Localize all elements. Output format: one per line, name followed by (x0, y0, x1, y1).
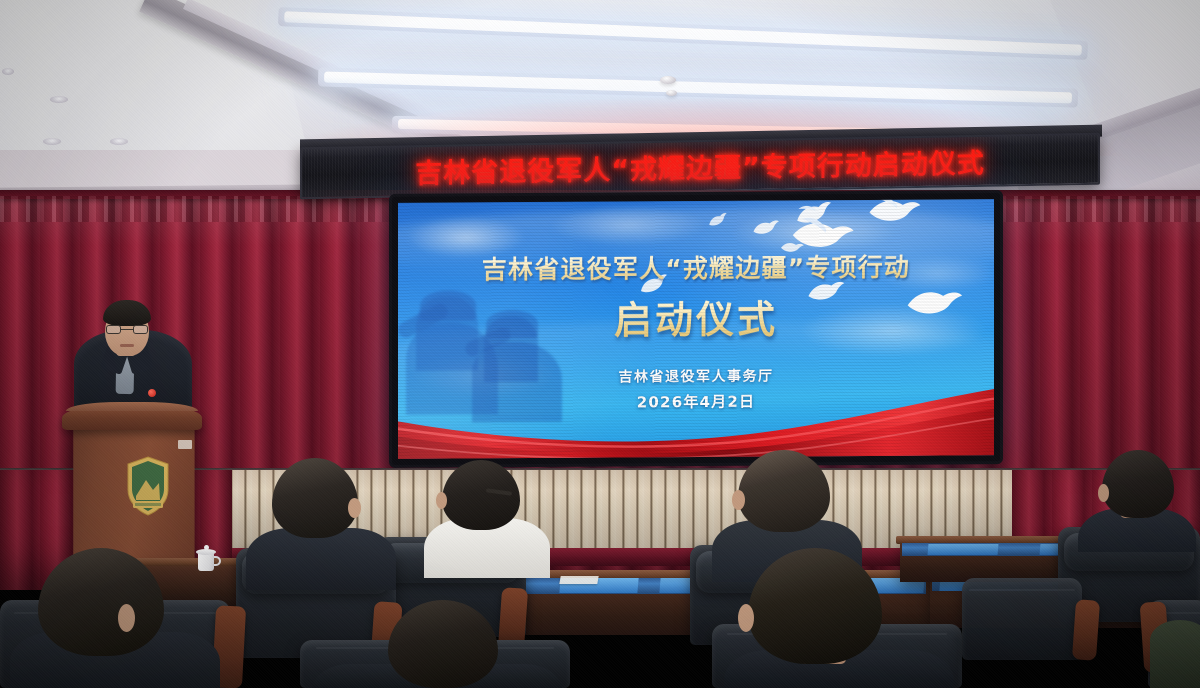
podium-top-edge (66, 402, 198, 411)
conference-chair (962, 578, 1082, 660)
led-banner-text: 吉林省退役军人“戎耀边疆”专项行动启动仪式 (302, 139, 1098, 193)
audience-ear (436, 492, 447, 509)
audience-ear (1098, 484, 1109, 502)
projection-screen: 吉林省退役军人“戎耀边疆”专项行动 启动仪式 吉林省退役军人事务厅 2026年4… (398, 199, 994, 459)
podium-label-plate (178, 440, 192, 449)
veterans-affairs-emblem-icon (126, 456, 170, 516)
speaker-lapel-badge (148, 389, 156, 397)
teacup-lid-knob (204, 545, 209, 550)
recessed-downlight (43, 138, 61, 145)
smoke-detector (666, 90, 677, 96)
projection-screen-frame: 吉林省退役军人“戎耀边疆”专项行动 启动仪式 吉林省退役军人事务厅 2026年4… (392, 193, 1000, 465)
document-sheet (559, 576, 598, 584)
eyeglass-lens-right (133, 325, 148, 334)
speaker-mouth (120, 344, 134, 347)
screen-title-line2: 启动仪式 (398, 287, 994, 346)
recessed-downlight (2, 68, 14, 75)
lidded-teacup (196, 545, 218, 571)
audience-shoulders (1150, 620, 1200, 688)
blue-name-placard (928, 544, 999, 555)
chair-armrest (1072, 599, 1100, 661)
audience-ear (732, 490, 745, 510)
recessed-downlight (50, 96, 68, 103)
screen-title-line1: 吉林省退役军人“戎耀边疆”专项行动 (398, 247, 994, 287)
red-ribbon-graphic (398, 371, 994, 459)
recessed-downlight (110, 138, 128, 145)
audience-ear (118, 604, 135, 632)
eyeglass-lens-left (106, 325, 121, 334)
audience-ear (738, 604, 754, 632)
eyeglasses-icon (106, 325, 148, 334)
audience-ear (348, 498, 361, 518)
smoke-detector (660, 76, 676, 84)
eyeglass-bridge (121, 329, 133, 330)
conference-hall-photo: 吉林省退役军人“戎耀边疆”专项行动启动仪式 (0, 0, 1200, 688)
